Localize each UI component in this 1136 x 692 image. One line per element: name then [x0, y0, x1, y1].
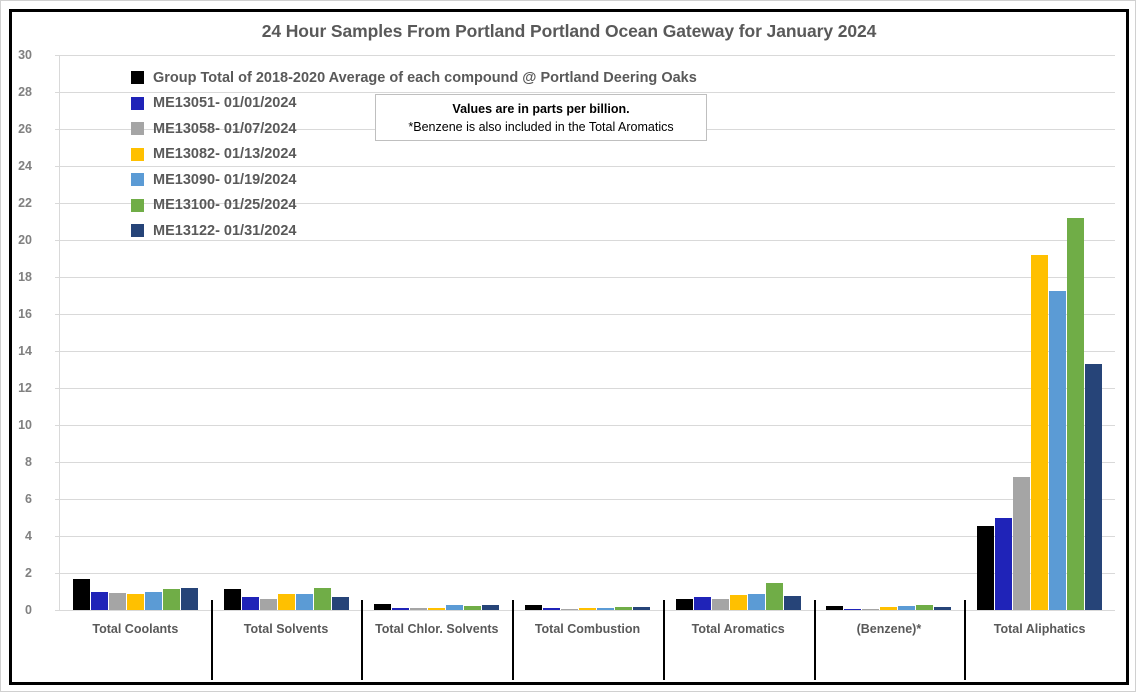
- legend-swatch-icon: [131, 173, 144, 186]
- bar[interactable]: [482, 605, 499, 610]
- bar[interactable]: [464, 606, 481, 610]
- category-label: Total Combustion: [512, 622, 663, 636]
- category-label: (Benzene)*: [814, 622, 965, 636]
- bar[interactable]: [995, 518, 1012, 611]
- bar-cluster: [977, 55, 1102, 610]
- y-axis-tick-label: 16: [0, 307, 32, 321]
- bar[interactable]: [579, 608, 596, 610]
- bar[interactable]: [543, 608, 560, 610]
- category-separator: [512, 600, 514, 680]
- y-axis-tick-label: 24: [0, 159, 32, 173]
- legend-item[interactable]: ME13122- 01/31/2024: [131, 218, 697, 244]
- bar[interactable]: [898, 606, 915, 610]
- bar[interactable]: [615, 607, 632, 610]
- bar[interactable]: [446, 605, 463, 610]
- bar[interactable]: [694, 597, 711, 610]
- category-label: Total Coolants: [60, 622, 211, 636]
- category-separator: [663, 600, 665, 680]
- bar[interactable]: [73, 579, 90, 610]
- y-axis-tick-label: 20: [0, 233, 32, 247]
- chart-title: 24 Hour Samples From Portland Portland O…: [1, 21, 1136, 42]
- legend-item[interactable]: ME13090- 01/19/2024: [131, 167, 697, 193]
- bar[interactable]: [766, 583, 783, 610]
- category-separator: [361, 600, 363, 680]
- category-separator: [814, 600, 816, 680]
- bar[interactable]: [1085, 364, 1102, 610]
- bar[interactable]: [224, 589, 241, 610]
- bar[interactable]: [181, 588, 198, 610]
- bar[interactable]: [428, 608, 445, 610]
- bar-cluster: [826, 55, 951, 610]
- y-axis-tick-label: 0: [0, 603, 32, 617]
- bar[interactable]: [525, 605, 542, 610]
- legend-label: Group Total of 2018-2020 Average of each…: [153, 70, 697, 86]
- category-label: Total Aliphatics: [964, 622, 1115, 636]
- legend-label: ME13100- 01/25/2024: [153, 197, 297, 213]
- bar[interactable]: [109, 593, 126, 610]
- bar[interactable]: [242, 597, 259, 610]
- legend-label: ME13090- 01/19/2024: [153, 172, 297, 188]
- bar[interactable]: [314, 588, 331, 610]
- y-axis-tick-label: 12: [0, 381, 32, 395]
- bar[interactable]: [260, 599, 277, 610]
- category-separator: [211, 600, 213, 680]
- bar[interactable]: [1031, 255, 1048, 610]
- bar[interactable]: [934, 607, 951, 610]
- legend-swatch-icon: [131, 224, 144, 237]
- bar[interactable]: [1049, 291, 1066, 610]
- bar[interactable]: [1067, 218, 1084, 610]
- y-axis-tick-label: 28: [0, 85, 32, 99]
- bar[interactable]: [145, 592, 162, 611]
- bar[interactable]: [332, 597, 349, 610]
- y-axis-tick-label: 8: [0, 455, 32, 469]
- bar[interactable]: [410, 608, 427, 610]
- bar-group: [814, 55, 965, 610]
- bar[interactable]: [844, 609, 861, 610]
- note-line-2: *Benzene is also included in the Total A…: [376, 118, 706, 136]
- bar[interactable]: [784, 596, 801, 610]
- y-axis-tick-label: 4: [0, 529, 32, 543]
- category-separator: [964, 600, 966, 680]
- bar[interactable]: [597, 608, 614, 610]
- legend-item[interactable]: ME13082- 01/13/2024: [131, 142, 697, 168]
- category-label: Total Chlor. Solvents: [361, 622, 512, 636]
- bar[interactable]: [1013, 477, 1030, 610]
- bar[interactable]: [163, 589, 180, 610]
- legend-item[interactable]: ME13100- 01/25/2024: [131, 193, 697, 219]
- y-axis-tick-label: 10: [0, 418, 32, 432]
- legend-label: ME13122- 01/31/2024: [153, 223, 297, 239]
- bar[interactable]: [826, 606, 843, 610]
- legend-label: ME13058- 01/07/2024: [153, 121, 297, 137]
- y-axis-tick-label: 14: [0, 344, 32, 358]
- bar[interactable]: [676, 599, 693, 610]
- y-axis-tick-label: 26: [0, 122, 32, 136]
- legend-swatch-icon: [131, 71, 144, 84]
- y-axis-tick-label: 18: [0, 270, 32, 284]
- bar[interactable]: [561, 609, 578, 610]
- bar[interactable]: [712, 599, 729, 610]
- bar[interactable]: [880, 607, 897, 610]
- bar[interactable]: [392, 608, 409, 610]
- y-axis-tick-label: 22: [0, 196, 32, 210]
- category-label: Total Solvents: [211, 622, 362, 636]
- bar[interactable]: [730, 595, 747, 610]
- gridline: [60, 610, 1115, 611]
- note-line-1: Values are in parts per billion.: [376, 100, 706, 118]
- chart-legend: Group Total of 2018-2020 Average of each…: [131, 65, 697, 244]
- legend-swatch-icon: [131, 97, 144, 110]
- y-axis-tick-label: 30: [0, 48, 32, 62]
- legend-label: ME13082- 01/13/2024: [153, 146, 297, 162]
- bar[interactable]: [278, 594, 295, 610]
- category-label: Total Aromatics: [663, 622, 814, 636]
- legend-label: ME13051- 01/01/2024: [153, 95, 297, 111]
- legend-swatch-icon: [131, 148, 144, 161]
- y-axis-tick-label: 2: [0, 566, 32, 580]
- bar[interactable]: [916, 605, 933, 610]
- legend-item[interactable]: Group Total of 2018-2020 Average of each…: [131, 65, 697, 91]
- bar[interactable]: [296, 594, 313, 610]
- legend-swatch-icon: [131, 122, 144, 135]
- bar[interactable]: [127, 594, 144, 610]
- y-axis-tick-label: 6: [0, 492, 32, 506]
- bar[interactable]: [977, 526, 994, 610]
- y-axis-tick-mark: [55, 610, 60, 611]
- bar[interactable]: [633, 607, 650, 610]
- bar[interactable]: [748, 594, 765, 610]
- bar[interactable]: [374, 604, 391, 610]
- chart-frame: 24 Hour Samples From Portland Portland O…: [0, 0, 1136, 692]
- legend-swatch-icon: [131, 199, 144, 212]
- bar[interactable]: [91, 592, 108, 610]
- bar-group: [964, 55, 1115, 610]
- bar[interactable]: [862, 609, 879, 610]
- note-box: Values are in parts per billion. *Benzen…: [375, 94, 707, 141]
